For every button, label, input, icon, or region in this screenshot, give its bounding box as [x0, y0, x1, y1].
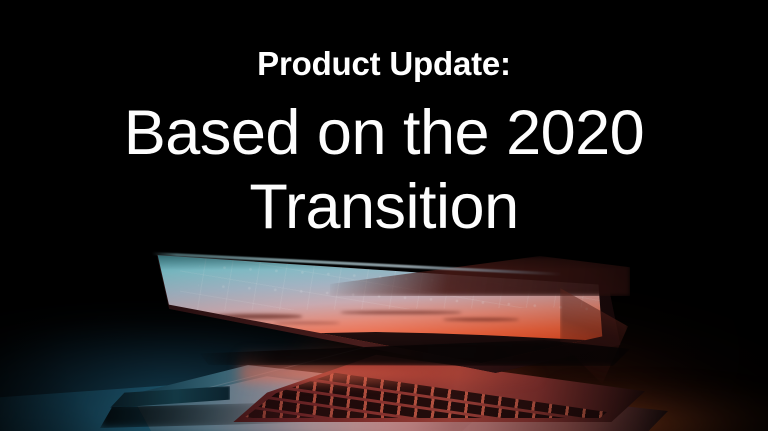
- page-title: Based on the 2020 Transition: [0, 96, 768, 244]
- headline-line-1: Based on the 2020: [0, 96, 768, 170]
- headline-line-2: Transition: [0, 170, 768, 244]
- eyebrow-label: Product Update:: [0, 44, 768, 84]
- banner-graphic: Product Update: Based on the 2020 Transi…: [0, 0, 768, 431]
- banner-text-block: Product Update: Based on the 2020 Transi…: [0, 0, 768, 431]
